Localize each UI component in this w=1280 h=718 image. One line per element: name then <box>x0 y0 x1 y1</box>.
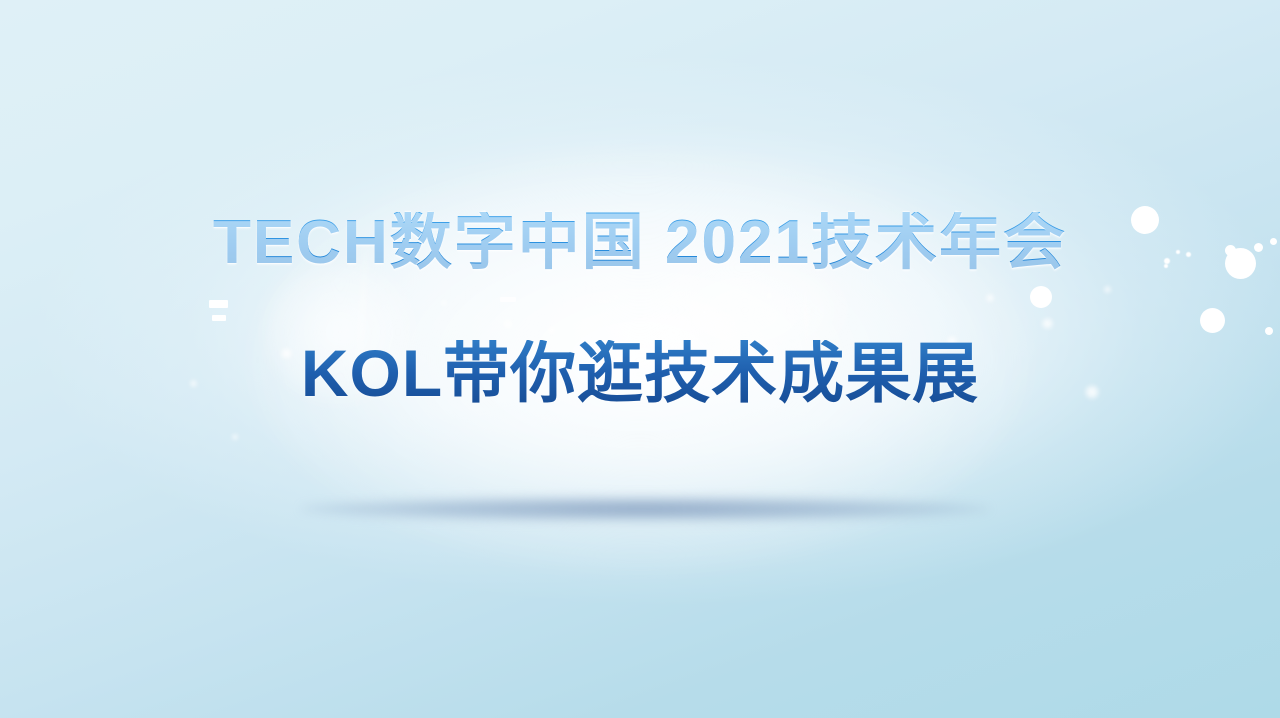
title-lockup: TECH数字中国 2021技术年会 KOL带你逛技术成果展 <box>0 0 1280 718</box>
event-title-line-1: TECH数字中国 2021技术年会 <box>213 212 1067 274</box>
title-card-slide: TECH数字中国 2021技术年会 KOL带你逛技术成果展 <box>0 0 1280 718</box>
event-title-line-2: KOL带你逛技术成果展 <box>301 340 979 406</box>
